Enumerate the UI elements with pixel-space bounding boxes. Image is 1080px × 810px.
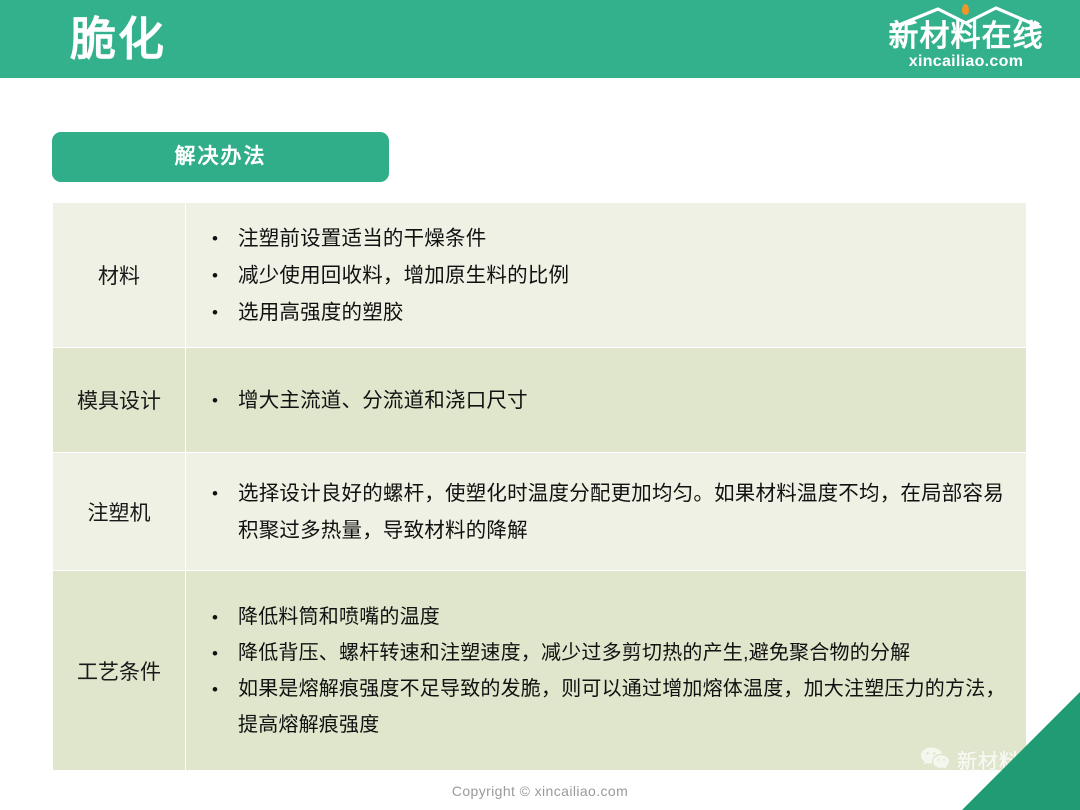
- page-title: 脆化: [70, 9, 166, 69]
- bullet-list: 增大主流道、分流道和浇口尺寸: [206, 382, 1012, 419]
- table-cell-content: 选择设计良好的螺杆，使塑化时温度分配更加均匀。如果材料温度不均，在局部容易积聚过…: [186, 453, 1027, 571]
- solutions-table: 材料 注塑前设置适当的干燥条件 减少使用回收料，增加原生料的比例 选用高强度的塑…: [52, 202, 1027, 771]
- brand-domain: xincailiao.com: [876, 53, 1056, 71]
- bullet-list: 降低料筒和喷嘴的温度 降低背压、螺杆转速和注塑速度，减少过多剪切热的产生,避免聚…: [206, 599, 1012, 743]
- table-row: 工艺条件 降低料筒和喷嘴的温度 降低背压、螺杆转速和注塑速度，减少过多剪切热的产…: [53, 571, 1027, 771]
- list-item: 选择设计良好的螺杆，使塑化时温度分配更加均匀。如果材料温度不均，在局部容易积聚过…: [206, 475, 1012, 549]
- corner-decoration: [962, 692, 1080, 810]
- brand-name-cn: 新材料在线: [876, 20, 1056, 54]
- table-row: 注塑机 选择设计良好的螺杆，使塑化时温度分配更加均匀。如果材料温度不均，在局部容…: [53, 453, 1027, 571]
- wechat-icon: [920, 746, 950, 772]
- table-cell-content: 增大主流道、分流道和浇口尺寸: [186, 348, 1027, 453]
- section-heading-label: 解决办法: [52, 132, 389, 182]
- brand-logo[interactable]: 新材料在线 xincailiao.com: [876, 4, 1056, 76]
- table-cell-category: 模具设计: [53, 348, 186, 453]
- table-cell-category: 注塑机: [53, 453, 186, 571]
- table-cell-category: 材料: [53, 203, 186, 348]
- table-row: 材料 注塑前设置适当的干燥条件 减少使用回收料，增加原生料的比例 选用高强度的塑…: [53, 203, 1027, 348]
- bullet-list: 选择设计良好的螺杆，使塑化时温度分配更加均匀。如果材料温度不均，在局部容易积聚过…: [206, 475, 1012, 549]
- table-row: 模具设计 增大主流道、分流道和浇口尺寸: [53, 348, 1027, 453]
- table-cell-category: 工艺条件: [53, 571, 186, 771]
- section-heading-pill: 解决办法: [52, 132, 389, 182]
- bullet-list: 注塑前设置适当的干燥条件 减少使用回收料，增加原生料的比例 选用高强度的塑胶: [206, 220, 1012, 331]
- table-cell-content: 注塑前设置适当的干燥条件 减少使用回收料，增加原生料的比例 选用高强度的塑胶: [186, 203, 1027, 348]
- list-item: 降低背压、螺杆转速和注塑速度，减少过多剪切热的产生,避免聚合物的分解: [206, 635, 1012, 671]
- list-item: 注塑前设置适当的干燥条件: [206, 220, 1012, 257]
- list-item: 选用高强度的塑胶: [206, 294, 1012, 331]
- copyright-text: Copyright © xincailiao.com: [0, 783, 1080, 799]
- list-item: 如果是熔解痕强度不足导致的发脆，则可以通过增加熔体温度，加大注塑压力的方法，提高…: [206, 671, 1012, 743]
- table-cell-content: 降低料筒和喷嘴的温度 降低背压、螺杆转速和注塑速度，减少过多剪切热的产生,避免聚…: [186, 571, 1027, 771]
- list-item: 减少使用回收料，增加原生料的比例: [206, 257, 1012, 294]
- list-item: 增大主流道、分流道和浇口尺寸: [206, 382, 1012, 419]
- header-bar: 脆化 新材料在线 xincailiao.com: [0, 0, 1080, 78]
- list-item: 降低料筒和喷嘴的温度: [206, 599, 1012, 635]
